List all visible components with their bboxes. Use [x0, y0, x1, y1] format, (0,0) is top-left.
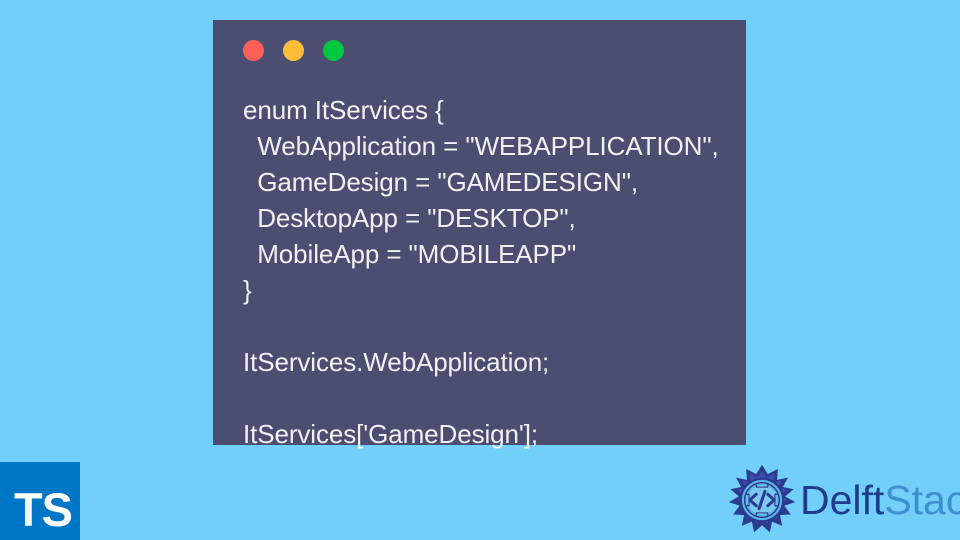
delftstack-wordmark: DelftStack [800, 480, 960, 521]
code-line-blank [243, 380, 738, 416]
code-line: DesktopApp = "DESKTOP", [243, 200, 738, 236]
code-block[interactable]: enum ItServices { WebApplication = "WEBA… [243, 92, 738, 452]
code-window-titlebar [213, 20, 746, 80]
minimize-button[interactable] [283, 40, 304, 61]
code-line: ItServices['GameDesign']; [243, 416, 738, 452]
delftstack-word-secondary: Stack [884, 477, 960, 523]
delftstack-logo: DelftStack [726, 462, 954, 538]
code-line: } [243, 272, 738, 308]
delftstack-emblem-icon [726, 464, 798, 536]
maximize-button[interactable] [323, 40, 344, 61]
code-line: ItServices.WebApplication; [243, 344, 738, 380]
code-line-blank [243, 308, 738, 344]
code-window: enum ItServices { WebApplication = "WEBA… [213, 20, 746, 445]
typescript-logo: TS [0, 462, 80, 540]
close-button[interactable] [243, 40, 264, 61]
code-line: enum ItServices { [243, 92, 738, 128]
code-line: MobileApp = "MOBILEAPP" [243, 236, 738, 272]
code-line: WebApplication = "WEBAPPLICATION", [243, 128, 738, 164]
delftstack-word-primary: Delft [800, 477, 884, 523]
code-line: GameDesign = "GAMEDESIGN", [243, 164, 738, 200]
typescript-logo-label: TS [14, 486, 72, 533]
